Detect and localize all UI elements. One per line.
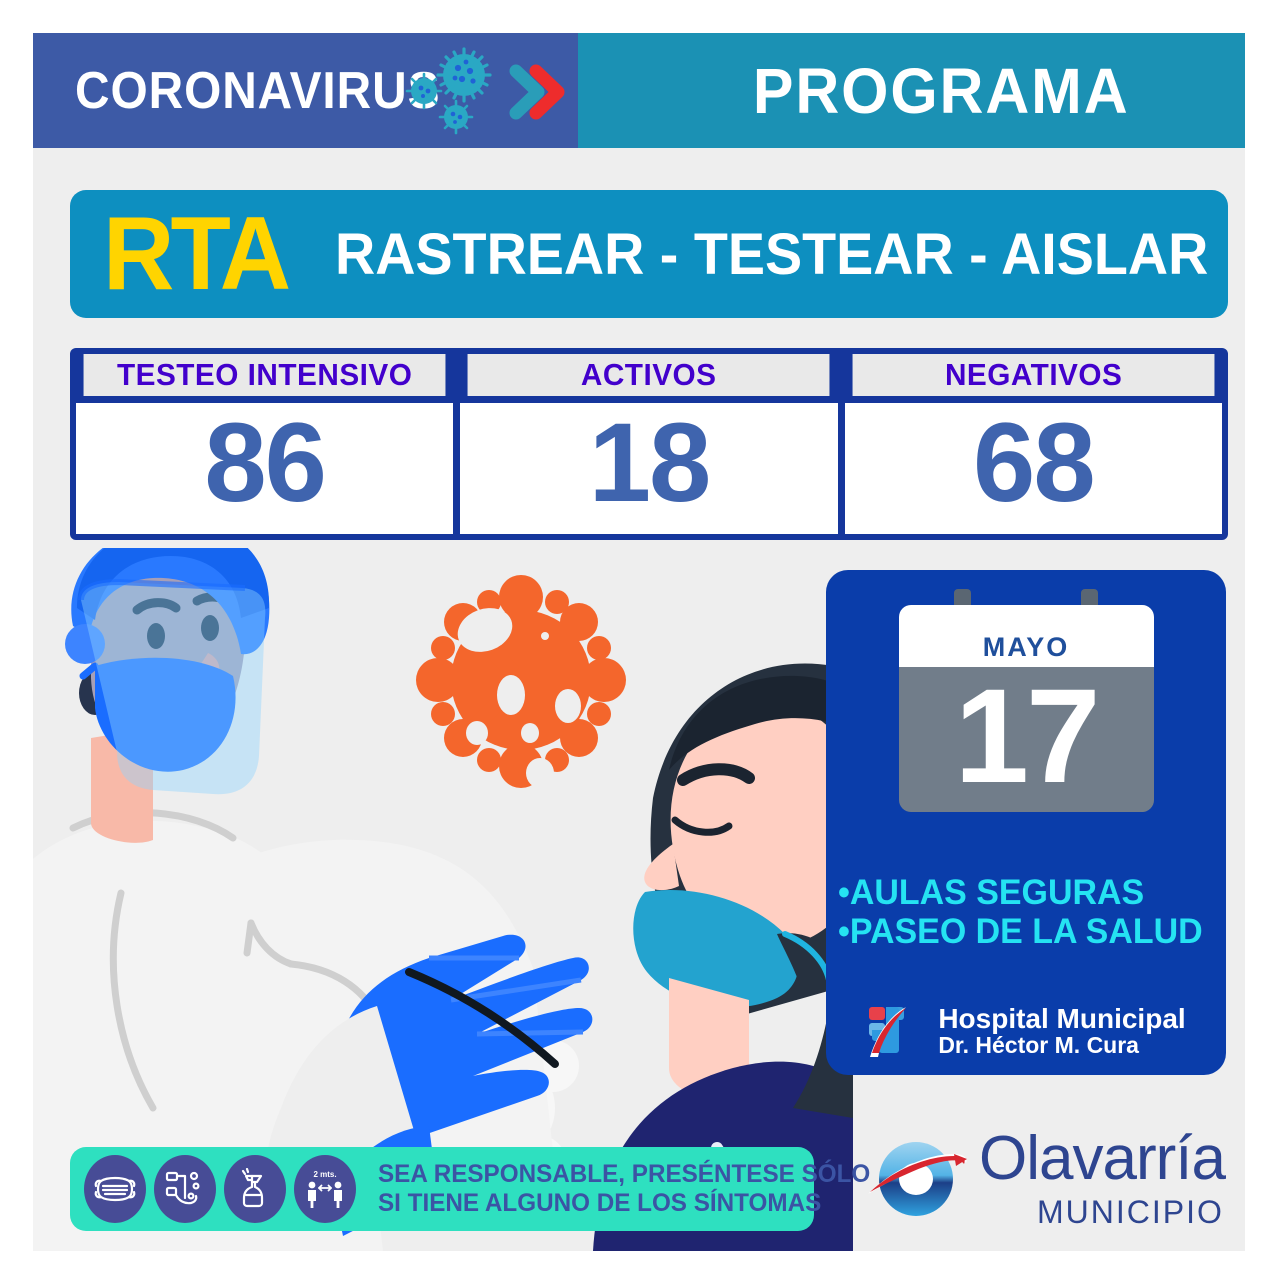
nurse-swabbing-patient-illustration — [33, 548, 853, 1251]
hospital-cross-icon — [866, 1001, 926, 1061]
hospital-subtitle: Dr. Héctor M. Cura — [938, 1033, 1185, 1058]
bullet-aulas-seguras: •AULAS SEGURAS — [838, 873, 1203, 912]
calendar-day: 17 — [954, 670, 1097, 810]
olavarria-text: Olavarría MUNICIPIO — [979, 1128, 1225, 1228]
social-distance-icon: 2 mts. — [294, 1155, 356, 1223]
header-left-panel: CORONAVIRUS — [33, 33, 578, 148]
poster-root: CORONAVIRUS — [8, 8, 1272, 1272]
stat-value: 18 — [460, 403, 837, 534]
header-coronavirus-title: CORONAVIRUS — [75, 61, 440, 121]
header-right-panel: PROGRAMA — [578, 33, 1245, 148]
hospital-brand: Hospital Municipal Dr. Héctor M. Cura — [866, 1001, 1185, 1061]
rta-tag: RTA — [103, 202, 287, 306]
stat-value: 86 — [76, 403, 453, 534]
bullet-paseo-de-la-salud: •PASEO DE LA SALUD — [838, 912, 1203, 951]
calendar-info-card: MAYO 17 •AULAS SEGURAS •PASEO DE LA SALU… — [826, 570, 1226, 1075]
face-mask-icon — [84, 1155, 146, 1223]
prevention-line-1: SEA RESPONSABLE, PRESÉNTESE SÓLO — [378, 1160, 870, 1189]
olavarria-subtitle: MUNICIPIO — [1037, 1196, 1225, 1228]
spray-bottle-icon — [224, 1155, 286, 1223]
hospital-text: Hospital Municipal Dr. Héctor M. Cura — [938, 1004, 1185, 1059]
prevention-text: SEA RESPONSABLE, PRESÉNTESE SÓLO SI TIEN… — [378, 1160, 886, 1218]
hand-washing-icon — [154, 1155, 216, 1223]
double-chevron-right-icon — [508, 61, 570, 123]
rta-banner: RTA RASTREAR - TESTEAR - AISLAR — [70, 190, 1228, 318]
header-programa-title: PROGRAMA — [753, 54, 1130, 128]
calendar-body: 17 — [899, 667, 1154, 812]
prevention-bar: 2 mts. SEA RESPONSABLE, PRESÉNTESE SÓLO … — [70, 1147, 814, 1231]
stat-column: TESTEO INTENSIVO 86 — [76, 354, 453, 534]
olavarria-name: Olavarría — [979, 1128, 1225, 1190]
virus-icon — [402, 47, 512, 137]
stat-value: 68 — [845, 403, 1222, 534]
stat-column: NEGATIVOS 68 — [845, 354, 1222, 534]
calendar-bullet-list: •AULAS SEGURAS •PASEO DE LA SALUD — [838, 873, 1214, 951]
poster-header: CORONAVIRUS — [33, 33, 1245, 148]
hospital-name: Hospital Municipal — [938, 1004, 1185, 1033]
stat-column: ACTIVOS 18 — [460, 354, 837, 534]
stat-label: TESTEO INTENSIVO — [84, 354, 446, 396]
stat-label: NEGATIVOS — [852, 354, 1214, 396]
stat-label: ACTIVOS — [468, 354, 830, 396]
prevention-line-2: SI TIENE ALGUNO DE LOS SÍNTOMAS — [378, 1189, 870, 1218]
calendar-icon: MAYO 17 — [899, 597, 1154, 819]
rta-subtitle: RASTREAR - TESTEAR - AISLAR — [335, 221, 1208, 288]
stats-table: TESTEO INTENSIVO 86 ACTIVOS 18 NEGATIVOS… — [70, 348, 1228, 540]
olavarria-swoosh-icon — [868, 1132, 973, 1227]
olavarria-brand: Olavarría MUNICIPIO — [868, 1128, 1218, 1238]
calendar-header: MAYO — [899, 605, 1154, 667]
svg-text:2 mts.: 2 mts. — [313, 1170, 336, 1179]
